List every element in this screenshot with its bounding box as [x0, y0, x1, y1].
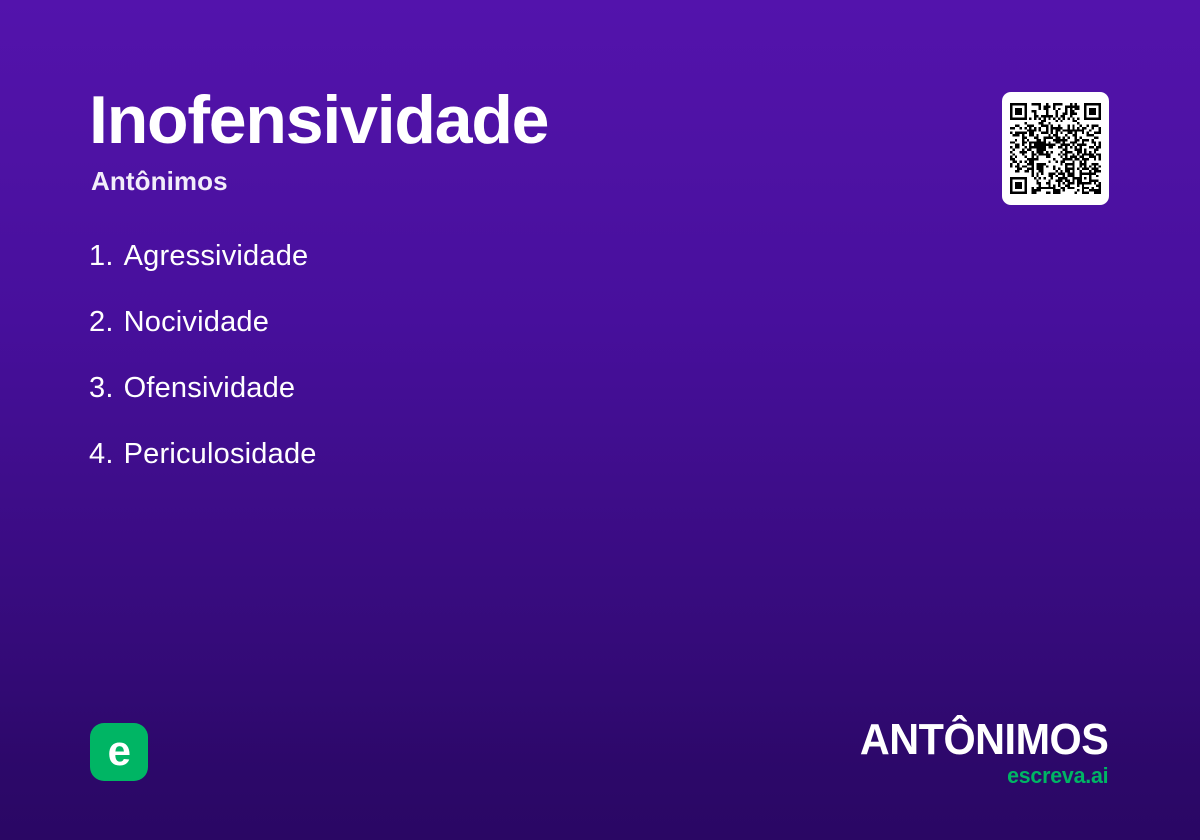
list-item: 1.Agressividade	[89, 236, 869, 302]
escreva-e-logo-icon[interactable]: e	[90, 723, 148, 781]
list-item: 4.Periculosidade	[89, 434, 869, 500]
list-item-index: 3.	[89, 368, 114, 408]
list-item-index: 2.	[89, 302, 114, 342]
list-item-word: Ofensividade	[124, 368, 296, 408]
page-subtitle: Antônimos	[91, 166, 849, 196]
antonym-card: Inofensividade Antônimos 1.Agressividade…	[0, 0, 1200, 840]
wordmark-title: ANTÔNIMOS	[859, 718, 1108, 762]
list-item-index: 1.	[89, 236, 114, 276]
qr-code-icon	[1010, 103, 1101, 194]
list-item: 2.Nocividade	[89, 302, 869, 368]
list-item: 3.Ofensividade	[89, 368, 869, 434]
wordmark[interactable]: ANTÔNIMOS escreva.ai	[844, 718, 1108, 788]
antonym-list: 1.Agressividade2.Nocividade3.Ofensividad…	[89, 236, 869, 500]
page-title: Inofensividade	[89, 84, 849, 156]
brand-mark-letter: e	[108, 730, 131, 772]
list-item-index: 4.	[89, 434, 114, 474]
list-item-word: Agressividade	[124, 236, 309, 276]
list-item-word: Nocividade	[124, 302, 269, 342]
header-block: Inofensividade Antônimos	[89, 84, 849, 196]
wordmark-subtitle: escreva.ai	[852, 764, 1108, 788]
qr-code[interactable]	[1002, 92, 1109, 205]
list-item-word: Periculosidade	[124, 434, 317, 474]
